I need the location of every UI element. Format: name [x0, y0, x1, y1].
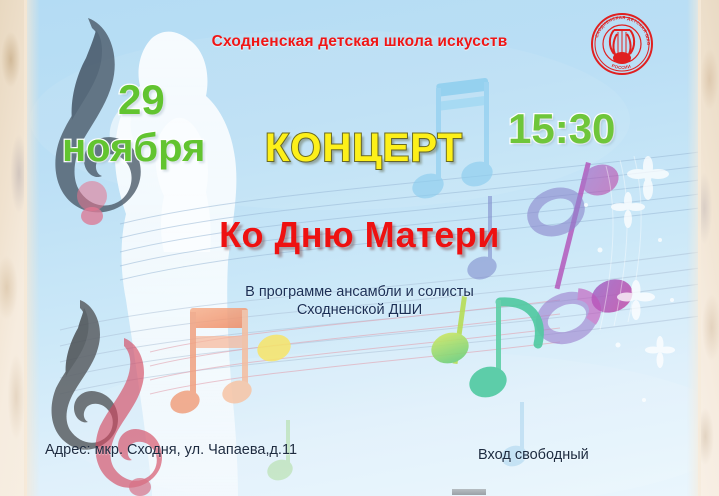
note-yellow [254, 330, 294, 365]
svg-text:РОССИИ: РОССИИ [611, 63, 632, 70]
program-line-1: В программе ансамбли и солисты [0, 283, 719, 301]
concert-poster: СХОДНЕНСКАЯ ДЕТСКАЯ ШКОЛА ИСКУССТВ РОССИ… [0, 0, 719, 496]
treble-clef-pink [96, 338, 162, 496]
note-orange-beamed [167, 308, 254, 417]
school-title: Сходненская детская школа искусств [0, 33, 719, 51]
program-line-2: Сходненской ДШИ [0, 301, 719, 319]
treble-clef-gray [52, 300, 118, 450]
event-main-title: Ко Дню Матери [0, 214, 719, 256]
event-date-day: 29 [118, 76, 165, 124]
program-description: В программе ансамбли и солисты Сходненск… [0, 283, 719, 319]
event-time: 15:30 [508, 105, 615, 153]
venue-address: Адрес: мкр. Сходня, ул. Чапаева,д.11 [45, 442, 297, 458]
pink-circle-accent [77, 181, 107, 211]
event-date-month: ноября [62, 126, 205, 171]
white-floral-ornament [584, 156, 675, 402]
event-type-label: КОНЦЕРТ [265, 126, 463, 171]
free-entry-note: Вход свободный [478, 447, 589, 463]
bottom-scan-artifact [452, 489, 486, 495]
